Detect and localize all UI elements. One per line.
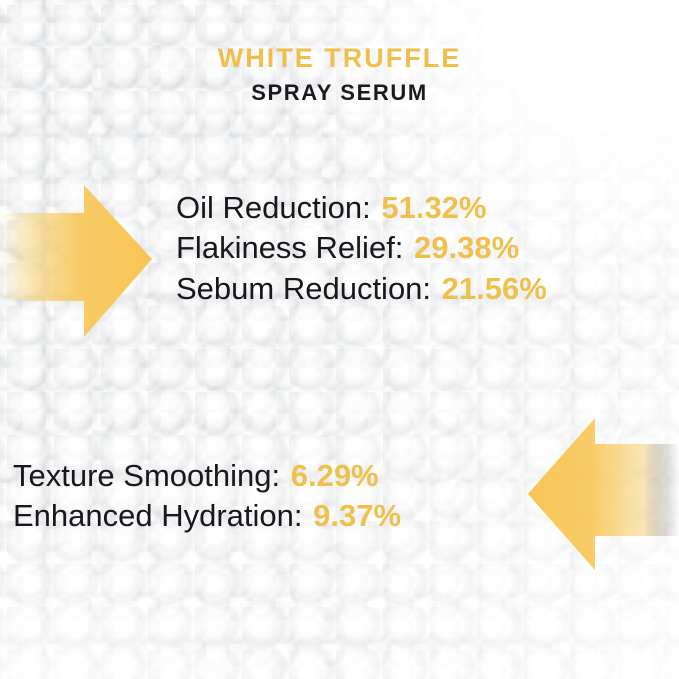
stat-value: 9.37% <box>313 498 401 533</box>
stats-group-top: Oil Reduction: 51.32% Flakiness Relief: … <box>176 188 676 309</box>
stat-value: 6.29% <box>291 458 379 493</box>
product-infographic: WHITE TRUFFLE SPRAY SERUM <box>0 0 679 679</box>
stat-row: Texture Smoothing: 6.29% <box>13 456 573 496</box>
stat-value: 29.38% <box>414 230 519 265</box>
stat-row: Sebum Reduction: 21.56% <box>176 269 676 309</box>
stat-value: 51.32% <box>381 190 486 225</box>
product-title-block: WHITE TRUFFLE SPRAY SERUM <box>0 44 679 104</box>
product-title-secondary: SPRAY SERUM <box>0 81 679 104</box>
arrow-right-pointing <box>0 182 175 342</box>
stat-label: Flakiness Relief: <box>176 230 403 265</box>
stat-row: Oil Reduction: 51.32% <box>176 188 676 228</box>
stat-label: Enhanced Hydration: <box>13 498 303 533</box>
stat-label: Sebum Reduction: <box>176 271 431 306</box>
stat-label: Texture Smoothing: <box>13 458 280 493</box>
stat-row: Enhanced Hydration: 9.37% <box>13 496 573 536</box>
stat-label: Oil Reduction: <box>176 190 371 225</box>
stats-group-bottom: Texture Smoothing: 6.29% Enhanced Hydrat… <box>13 456 573 537</box>
stat-row: Flakiness Relief: 29.38% <box>176 228 676 268</box>
stat-value: 21.56% <box>442 271 547 306</box>
product-title-primary: WHITE TRUFFLE <box>0 44 679 73</box>
